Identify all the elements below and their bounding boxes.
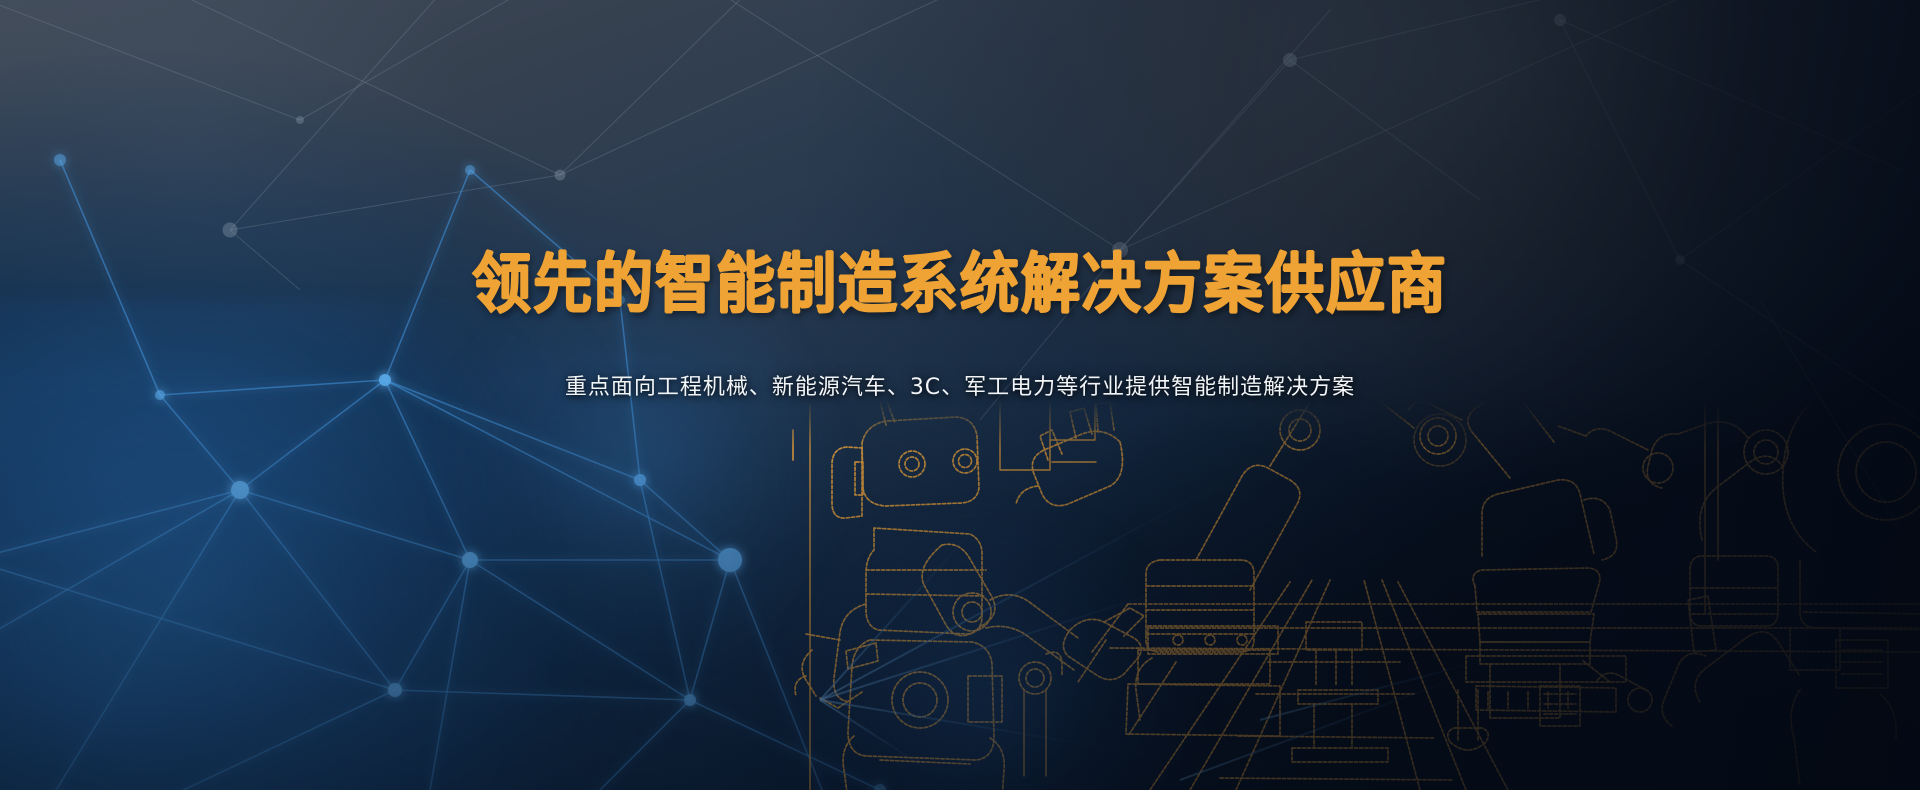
page-title: 领先的智能制造系统解决方案供应商 (0, 250, 1920, 319)
hero-text-block: 领先的智能制造系统解决方案供应商 重点面向工程机械、新能源汽车、3C、军工电力等… (0, 250, 1920, 403)
page-subtitle: 重点面向工程机械、新能源汽车、3C、军工电力等行业提供智能制造解决方案 (0, 313, 1920, 404)
hero-banner: 领先的智能制造系统解决方案供应商 重点面向工程机械、新能源汽车、3C、军工电力等… (0, 0, 1920, 790)
